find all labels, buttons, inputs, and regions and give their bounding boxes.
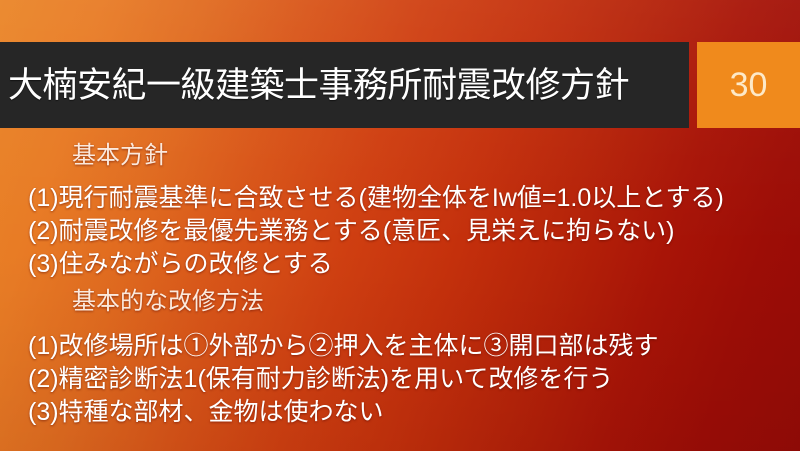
list-item: (2)精密診断法1(保有耐力診断法)を用いて改修を行う [28, 367, 613, 392]
section-heading-basic-method: 基本的な改修方法 [72, 290, 264, 314]
list-item: (1)改修場所は①外部から②押入を主体に③開口部は残す [28, 334, 659, 359]
list-item: (2)耐震改修を最優先業務とする(意匠、見栄えに拘らない) [28, 219, 674, 244]
slide-title-bar: 大楠安紀一級建築士事務所耐震改修方針 [0, 42, 689, 128]
list-item: (3)特種な部材、金物は使わない [28, 400, 384, 425]
page-number-label: 30 [730, 68, 768, 102]
page-title: 大楠安紀一級建築士事務所耐震改修方針 [0, 68, 629, 103]
slide-body: 基本方針 (1)現行耐震基準に合致させる(建物全体をIw値=1.0以上とする) … [0, 128, 800, 451]
list-item: (1)現行耐震基準に合致させる(建物全体をIw値=1.0以上とする) [28, 186, 724, 211]
slide-canvas: 大楠安紀一級建築士事務所耐震改修方針 30 基本方針 (1)現行耐震基準に合致さ… [0, 0, 800, 451]
list-item: (3)住みながらの改修とする [28, 252, 333, 277]
section-heading-basic-policy: 基本方針 [72, 144, 168, 168]
page-number-badge: 30 [697, 42, 800, 128]
